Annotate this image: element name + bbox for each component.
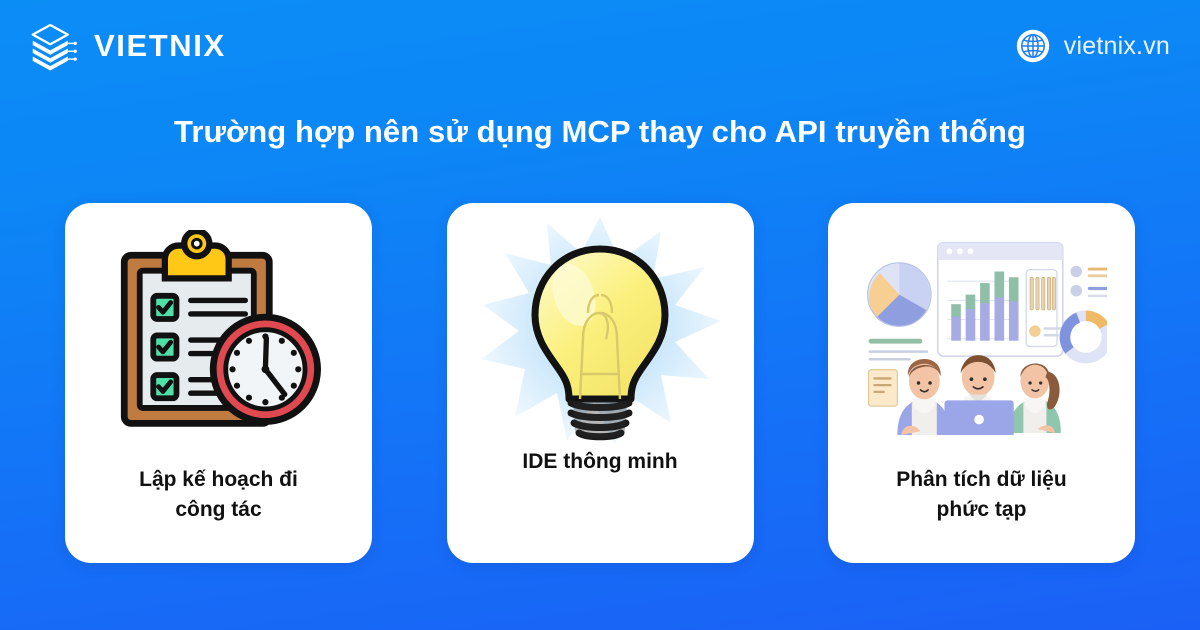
- feature-card-smart-ide[interactable]: IDE thông minh: [447, 203, 754, 563]
- page-header: VIETNIX vietnix.vn: [0, 0, 1200, 100]
- stacked-layers-icon: [24, 18, 80, 74]
- site-url-badge[interactable]: vietnix.vn: [1015, 28, 1170, 64]
- lightbulb-icon: [447, 203, 754, 465]
- feature-card-data-analysis[interactable]: Phân tích dữ liệu phức tạp: [828, 203, 1135, 563]
- data-analytics-team-icon: [828, 203, 1135, 465]
- card-label-line1: IDE thông minh: [522, 450, 677, 473]
- card-label-line1: Lập kế hoạch đi: [139, 468, 298, 491]
- feature-card-list: Lập kế hoạch đi công tác: [65, 203, 1135, 563]
- card-label-line2: công tác: [175, 498, 261, 521]
- brand-logo[interactable]: VIETNIX: [24, 18, 226, 74]
- feature-card-label: Phân tích dữ liệu phức tạp: [880, 465, 1082, 525]
- feature-card-travel-planning[interactable]: Lập kế hoạch đi công tác: [65, 203, 372, 563]
- card-label-line2: phức tạp: [937, 498, 1027, 521]
- clipboard-checklist-clock-icon: [65, 203, 372, 465]
- site-url-label: vietnix.vn: [1064, 32, 1170, 61]
- card-label-line1: Phân tích dữ liệu: [896, 468, 1066, 491]
- feature-card-label: IDE thông minh: [506, 447, 693, 477]
- brand-wordmark: VIETNIX: [94, 30, 226, 63]
- feature-card-label: Lập kế hoạch đi công tác: [123, 465, 314, 525]
- page-title: Trường hợp nên sử dụng MCP thay cho API …: [0, 112, 1200, 152]
- globe-icon: [1015, 28, 1051, 64]
